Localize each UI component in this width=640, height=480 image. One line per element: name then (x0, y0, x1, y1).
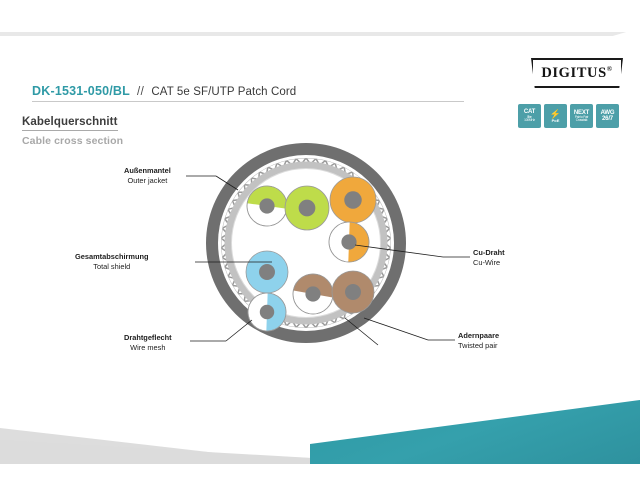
label-cu-wire: Cu-Draht Cu-Wire (473, 248, 505, 268)
label-wire-mesh-de: Drahtgeflecht (124, 333, 172, 343)
cu-conductor-core (259, 264, 275, 280)
poe-badge-line2: PoE (552, 119, 560, 123)
blue-pair-wire-1 (246, 251, 288, 293)
registered-mark-icon: ® (607, 65, 613, 73)
slide-canvas: DK-1531-050/BL // CAT 5e SF/UTP Patch Co… (0, 0, 640, 480)
slide-top-white (0, 0, 640, 32)
next-badge-line3: Crosstalk (576, 119, 587, 122)
label-cu-wire-de: Cu-Draht (473, 248, 505, 258)
header-separator: // (137, 86, 144, 98)
part-number-row: DK-1531-050/BL // CAT 5e SF/UTP Patch Co… (32, 84, 464, 102)
orange-pair-wire-1 (330, 177, 376, 223)
label-twisted-pair-en: Twisted pair (458, 341, 499, 351)
poe-badge: ⚡ PoE (544, 104, 567, 128)
label-outer-jacket: Außenmantel Outer jacket (124, 166, 171, 186)
digitus-logo: DIGITUS® (531, 58, 623, 88)
product-description: CAT 5e SF/UTP Patch Cord (151, 86, 296, 98)
label-twisted-pair: Adernpaare Twisted pair (458, 331, 499, 351)
part-number: DK-1531-050/BL (32, 84, 130, 98)
cable-cross-section-diagram (205, 142, 407, 344)
label-outer-jacket-en: Outer jacket (124, 176, 171, 186)
label-total-shield-en: Total shield (75, 262, 149, 272)
section-title-block: Kabelquerschnitt Cable cross section (22, 112, 123, 147)
cu-conductor-core (299, 200, 316, 217)
label-outer-jacket-de: Außenmantel (124, 166, 171, 176)
label-total-shield: Gesamtabschirmung Total shield (75, 252, 149, 272)
logo-text: DIGITUS (541, 65, 606, 81)
slide-bottom-white (0, 464, 640, 480)
label-wire-mesh-en: Wire mesh (124, 343, 172, 353)
label-total-shield-de: Gesamtabschirmung (75, 252, 149, 262)
cu-conductor-core (305, 286, 320, 301)
label-cu-wire-en: Cu-Wire (473, 258, 505, 268)
awg-badge-line2: 26/7 (602, 116, 613, 122)
cat-badge: CAT 5e 100MHz (518, 104, 541, 128)
cu-conductor-core (344, 191, 361, 208)
slide-left-white (0, 36, 18, 436)
cat-badge-line3: 100MHz (524, 119, 535, 122)
section-title-de: Kabelquerschnitt (22, 116, 118, 131)
green-pair-wire-2 (285, 186, 329, 230)
label-twisted-pair-de: Adernpaare (458, 331, 499, 341)
label-wire-mesh: Drahtgeflecht Wire mesh (124, 333, 172, 353)
cu-conductor-core (341, 234, 356, 249)
cable-svg (205, 142, 407, 344)
logo-wordmark: DIGITUS® (541, 65, 612, 82)
cu-conductor-core (259, 198, 274, 213)
brown-pair-wire-2 (332, 271, 374, 313)
cu-conductor-core (260, 305, 274, 319)
document-header: DK-1531-050/BL // CAT 5e SF/UTP Patch Co… (32, 84, 512, 102)
spec-badge-group: CAT 5e 100MHz ⚡ PoE NEXT Pair to Pair Cr… (518, 104, 619, 128)
cu-conductor-core (345, 284, 361, 300)
next-badge: NEXT Pair to Pair Crosstalk (570, 104, 593, 128)
awg-badge: AWG 26/7 (596, 104, 619, 128)
section-title-en: Cable cross section (22, 135, 123, 147)
